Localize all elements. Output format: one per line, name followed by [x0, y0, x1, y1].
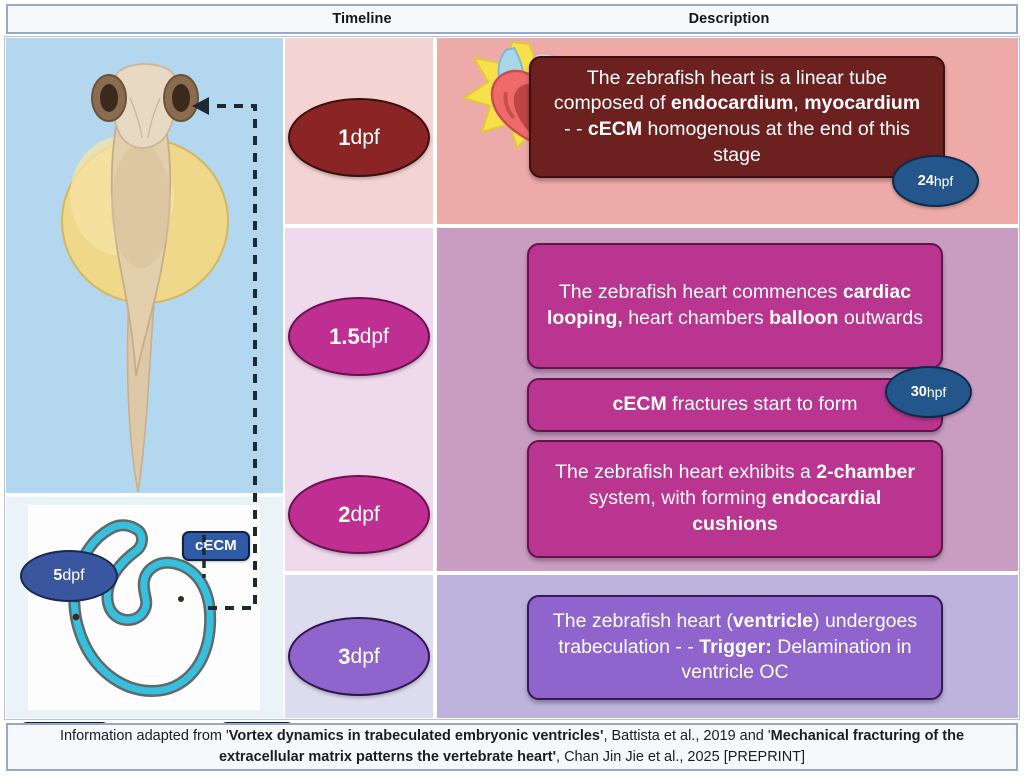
callout-cecm-fractures: cECM fractures start to form	[527, 378, 943, 432]
stage-badge-5dpf: 5dpf	[20, 550, 118, 602]
badge-24hpf-unit: hpf	[934, 173, 953, 189]
description-column: The zebrafish heart is a linear tube com…	[437, 38, 1018, 718]
callout-trabeculation-text: The zebrafish heart (ventricle) undergoe…	[547, 609, 923, 686]
stage-3dpf-unit: dpf	[351, 645, 380, 669]
zebrafish-larva-panel	[6, 38, 283, 493]
stage-1.5dpf-unit: dpf	[360, 325, 389, 349]
stage-ellipse-2dpf: 2dpf	[288, 475, 430, 554]
stage-ellipse-1dpf: 1dpf	[288, 98, 430, 177]
callout-trabeculation: The zebrafish heart (ventricle) undergoe…	[527, 595, 943, 700]
stage-2dpf-value: 2	[338, 502, 350, 528]
stage-1.5dpf-value: 1.5	[329, 324, 360, 350]
stage-1dpf-unit: dpf	[351, 126, 380, 150]
description-band-3dpf: The zebrafish heart (ventricle) undergoe…	[437, 575, 1018, 718]
label-cecm: cECM	[182, 531, 250, 561]
badge-30hpf-unit: hpf	[927, 384, 946, 400]
stage-1dpf-value: 1	[338, 125, 350, 151]
table-header-row: Timeline Description	[6, 4, 1018, 34]
header-description: Description	[440, 6, 1018, 32]
source-citation-text: Information adapted from 'Vortex dynamic…	[18, 726, 1006, 768]
callout-two-chamber: The zebrafish heart exhibits a 2-chamber…	[527, 440, 943, 558]
zebrafish-heart-development-timeline-figure: Timeline Description	[0, 0, 1024, 777]
badge-24hpf: 24hpf	[892, 155, 979, 207]
stage-3dpf-value: 3	[338, 644, 350, 670]
timeline-column: 1dpf 1.5dpf 2dpf 3dpf	[285, 38, 433, 718]
stage-badge-5dpf-value: 5	[53, 567, 62, 585]
callout-1dpf: The zebrafish heart is a linear tube com…	[529, 56, 945, 178]
source-citation-footer: Information adapted from 'Vortex dynamic…	[6, 723, 1018, 771]
badge-24hpf-value: 24	[918, 173, 934, 189]
badge-30hpf: 30hpf	[885, 366, 972, 418]
description-band-1.5-2dpf: The zebrafish heart commences cardiac lo…	[437, 228, 1018, 571]
callout-cecm-fractures-text: cECM fractures start to form	[613, 392, 858, 418]
stage-ellipse-1.5dpf: 1.5dpf	[288, 297, 430, 376]
callout-two-chamber-text: The zebrafish heart exhibits a 2-chamber…	[547, 460, 923, 537]
badge-30hpf-value: 30	[911, 384, 927, 400]
zebrafish-larva-illustration	[30, 46, 260, 496]
stage-ellipse-3dpf: 3dpf	[288, 617, 430, 696]
illustration-column: 5dpf cECM Ventricle Atrium	[6, 38, 283, 718]
callout-cardiac-looping: The zebrafish heart commences cardiac lo…	[527, 243, 943, 369]
stage-2dpf-unit: dpf	[351, 503, 380, 527]
description-band-1dpf: The zebrafish heart is a linear tube com…	[437, 38, 1018, 224]
header-timeline: Timeline	[286, 6, 438, 32]
callout-1dpf-text: The zebrafish heart is a linear tube com…	[549, 66, 925, 169]
stage-badge-5dpf-unit: dpf	[62, 567, 84, 585]
callout-cardiac-looping-text: The zebrafish heart commences cardiac lo…	[547, 280, 923, 331]
